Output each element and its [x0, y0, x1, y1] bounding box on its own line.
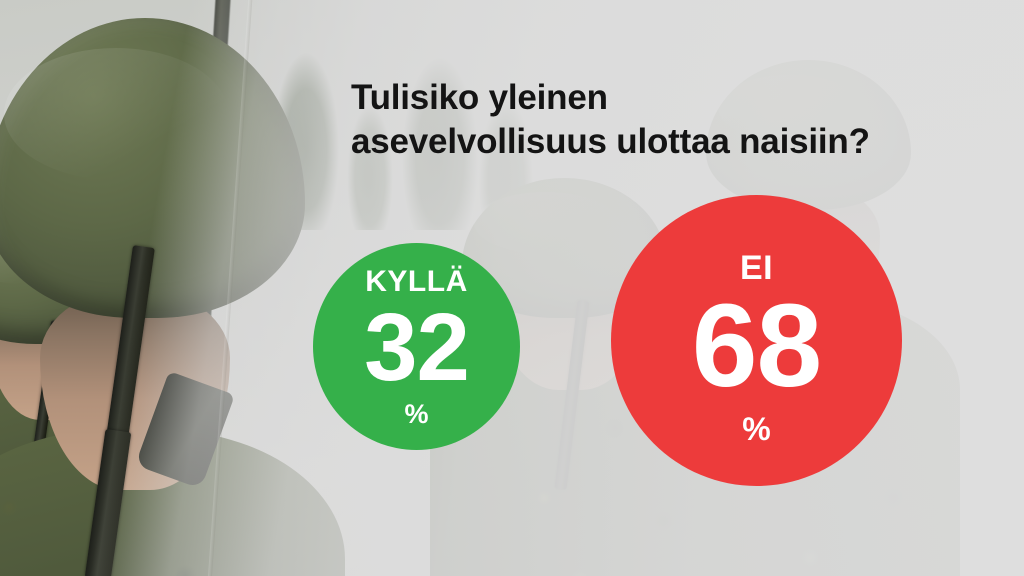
poll-result-graphic: Tulisiko yleinen asevelvollisuus ulottaa… [0, 0, 1024, 576]
result-value-no: 68 [692, 289, 821, 405]
page-title: Tulisiko yleinen asevelvollisuus ulottaa… [351, 76, 971, 164]
result-value-yes: 32 [364, 301, 469, 395]
result-circle-yes: KYLLÄ 32 % [313, 243, 520, 450]
headline-line-2: asevelvollisuus ulottaa naisiin? [351, 120, 971, 164]
result-circle-no: EI 68 % [611, 195, 902, 486]
result-label-yes: KYLLÄ [365, 267, 468, 297]
result-unit-no: % [742, 413, 770, 445]
result-unit-yes: % [404, 401, 428, 428]
headline-line-1: Tulisiko yleinen [351, 76, 971, 120]
